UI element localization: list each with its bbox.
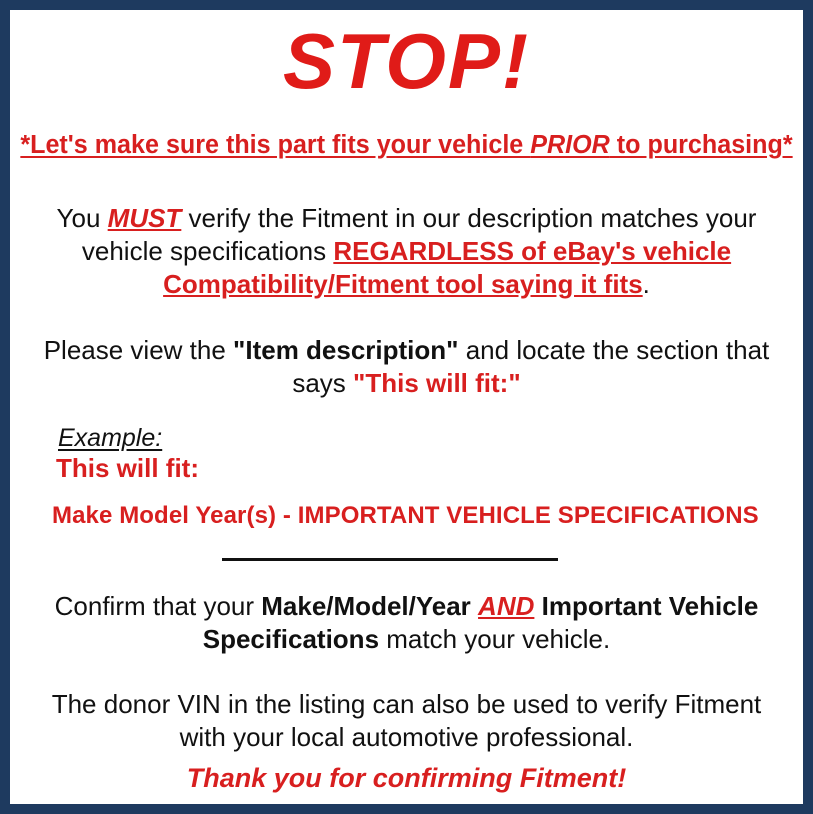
notice-canvas: STOP! *Let's make sure this part fits yo… [10, 10, 803, 804]
and-keyword: AND [478, 591, 534, 621]
must-para-part1: You [57, 203, 108, 233]
subtitle-banner: *Let's make sure this part fits your veh… [16, 130, 797, 160]
view-description-paragraph: Please view the "Item description" and l… [32, 334, 781, 400]
must-para-part3: . [643, 269, 650, 299]
section-divider [222, 558, 558, 561]
donor-vin-paragraph: The donor VIN in the listing can also be… [32, 688, 781, 754]
view-para-part1: Please view the [44, 335, 233, 365]
thank-you-message: Thank you for confirming Fitment! [10, 762, 803, 794]
this-will-fit-quote: "This will fit:" [353, 368, 521, 398]
example-this-will-fit-heading: This will fit: [56, 453, 199, 483]
must-verify-paragraph: You MUST verify the Fitment in our descr… [32, 202, 781, 301]
example-specification-line: Make Model Year(s) - IMPORTANT VEHICLE S… [52, 502, 764, 530]
must-keyword: MUST [108, 203, 182, 233]
make-model-year-label: Make/Model/Year [261, 591, 471, 621]
subtitle-emphasis: PRIOR [530, 131, 610, 159]
confirm-paragraph: Confirm that your Make/Model/Year AND Im… [32, 590, 781, 656]
fitment-notice-banner: STOP! *Let's make sure this part fits yo… [0, 0, 813, 814]
example-label: Example: [58, 424, 162, 452]
confirm-para-part2: match your vehicle. [379, 624, 610, 654]
confirm-para-part1: Confirm that your [55, 591, 262, 621]
page-title: STOP! [10, 16, 803, 106]
item-description-label: "Item description" [233, 335, 458, 365]
subtitle-prefix: *Let's make sure this part fits your veh… [20, 131, 530, 159]
subtitle-suffix: to purchasing* [610, 131, 793, 159]
